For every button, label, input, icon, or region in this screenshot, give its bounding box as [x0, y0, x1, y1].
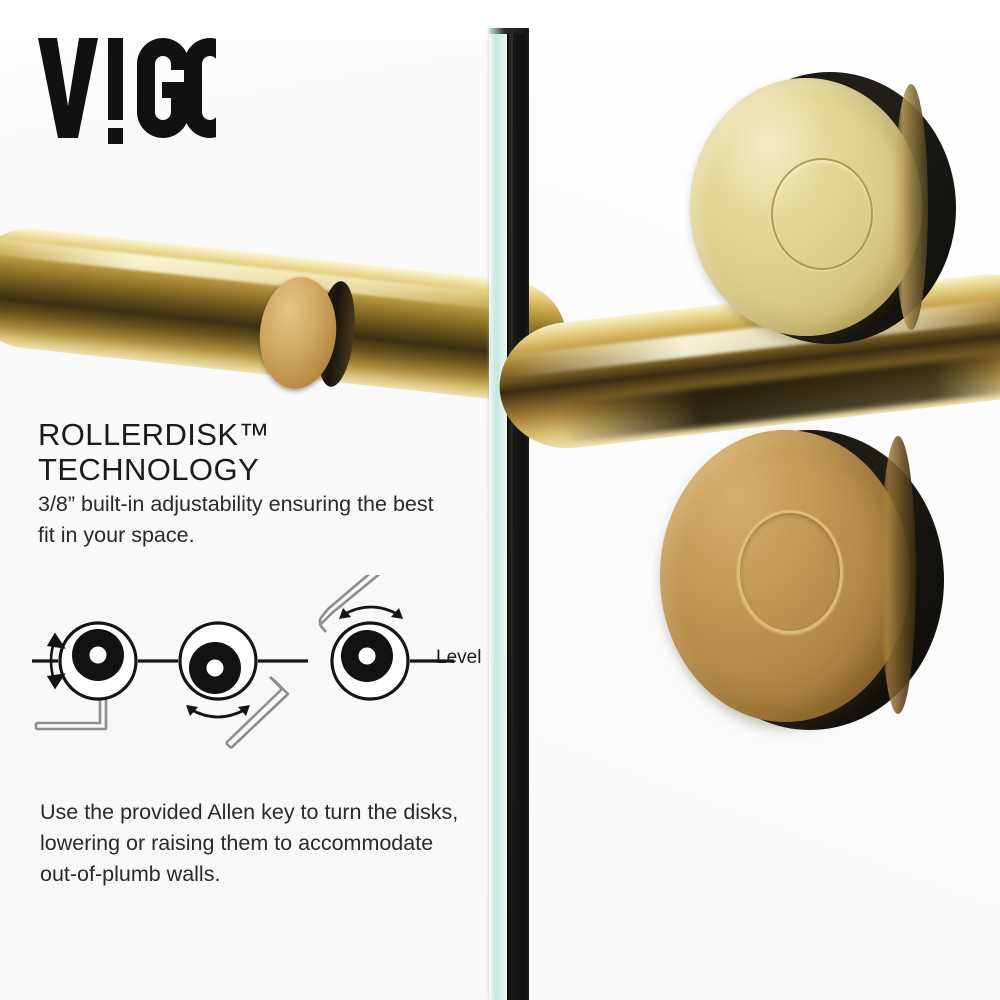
adjustability-diagram	[30, 575, 490, 775]
subcopy-text: 3/8” built-in adjustability ensuring the…	[38, 489, 438, 550]
caption-text: Use the provided Allen key to turn the d…	[40, 797, 460, 891]
page-title: ROLLERDISK™ TECHNOLOGY	[38, 418, 468, 487]
roller-disk-lower-inner-ring	[737, 510, 843, 634]
glass-panel-edge	[489, 28, 507, 1000]
glass-top-cap	[489, 28, 529, 34]
glass-seal-highlight	[509, 30, 513, 1000]
headline-line-1: ROLLERDISK™	[38, 418, 468, 453]
roller-disk-lower-edge-shadow	[880, 436, 916, 714]
arrow-curved-above-right	[339, 607, 403, 619]
diagram-disk-right	[332, 623, 408, 699]
diagram-disk-left	[60, 623, 136, 699]
arrow-curved-below-middle	[186, 705, 250, 717]
product-feature-image: ROLLERDISK™ TECHNOLOGY 3/8” built-in adj…	[0, 0, 1000, 1000]
diagram-disk-middle	[180, 623, 256, 699]
level-label: Level	[436, 647, 481, 669]
roller-disk-upper-edge-shadow	[894, 84, 928, 330]
roller-disk-upper-inner-ring	[771, 158, 873, 270]
vigo-logo	[36, 34, 216, 146]
headline-line-2: TECHNOLOGY	[38, 453, 468, 488]
